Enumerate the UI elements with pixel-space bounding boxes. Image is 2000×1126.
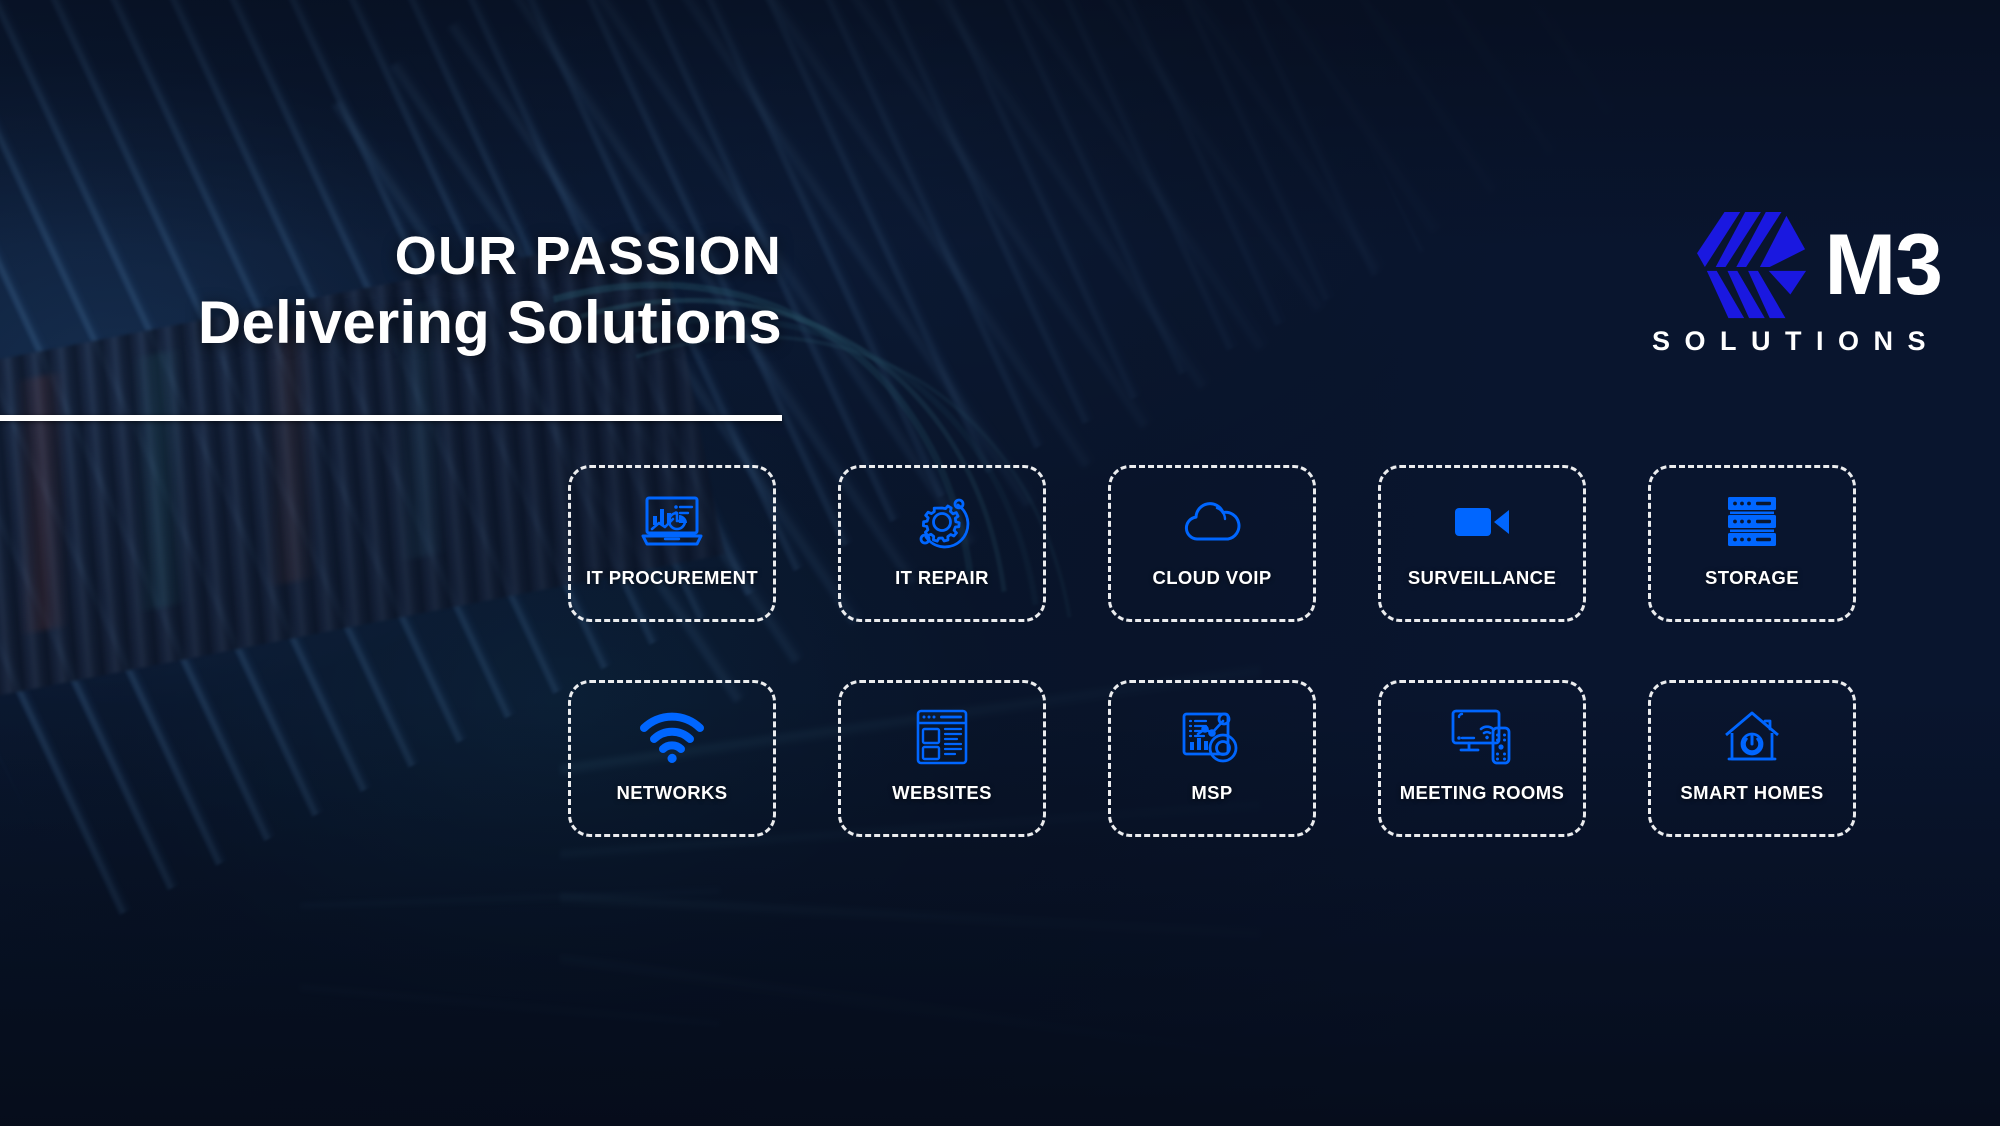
dashboard-donut-icon <box>1180 705 1244 769</box>
service-card-it-procurement[interactable]: IT PROCUREMENT <box>568 465 776 622</box>
service-card-it-repair[interactable]: IT REPAIR <box>838 465 1046 622</box>
headline-block: OUR PASSION Delivering Solutions <box>0 228 790 356</box>
service-card-label: SMART HOMES <box>1625 783 1879 804</box>
services-grid: IT PROCUREMENT IT REPAIR <box>568 465 1890 837</box>
headline-line-2: Delivering Solutions <box>0 289 782 356</box>
service-card-msp[interactable]: MSP <box>1108 680 1316 837</box>
service-card-smart-homes[interactable]: SMART HOMES <box>1648 680 1856 837</box>
slide-canvas: OUR PASSION Delivering Solutions M3 SOLU… <box>0 0 2000 1126</box>
wifi-signal-icon <box>640 705 704 769</box>
headline-line-1: OUR PASSION <box>0 228 782 285</box>
service-card-networks[interactable]: NETWORKS <box>568 680 776 837</box>
browser-window-icon <box>910 705 974 769</box>
m3-hexagon-stripes-icon <box>1695 210 1813 322</box>
video-camera-icon <box>1450 490 1514 554</box>
service-card-label: IT PROCUREMENT <box>545 568 799 589</box>
server-rack-icon <box>1720 490 1784 554</box>
service-card-label: SURVEILLANCE <box>1355 568 1609 589</box>
service-card-websites[interactable]: WEBSITES <box>838 680 1046 837</box>
service-card-storage[interactable]: STORAGE <box>1648 465 1856 622</box>
service-card-surveillance[interactable]: SURVEILLANCE <box>1378 465 1586 622</box>
cloud-icon <box>1180 490 1244 554</box>
laptop-analytics-icon <box>640 490 704 554</box>
service-card-cloud-voip[interactable]: CLOUD VOIP <box>1108 465 1316 622</box>
service-card-label: WEBSITES <box>815 783 1069 804</box>
gear-repair-icon <box>910 490 974 554</box>
service-card-label: NETWORKS <box>545 783 799 804</box>
service-card-label: MSP <box>1085 783 1339 804</box>
service-card-label: CLOUD VOIP <box>1085 568 1339 589</box>
logo-subtitle: SOLUTIONS <box>1534 326 1942 357</box>
service-card-label: MEETING ROOMS <box>1355 783 1609 804</box>
monitor-remote-icon <box>1450 705 1514 769</box>
service-card-meeting-rooms[interactable]: MEETING ROOMS <box>1378 680 1586 837</box>
house-power-icon <box>1720 705 1784 769</box>
service-card-label: IT REPAIR <box>815 568 1069 589</box>
logo-primary-row: M3 <box>1695 210 1942 322</box>
service-card-label: STORAGE <box>1625 568 1879 589</box>
headline-divider-rule <box>0 415 782 421</box>
logo-wordmark: M3 <box>1825 226 1942 305</box>
brand-logo: M3 SOLUTIONS <box>1534 210 1942 357</box>
